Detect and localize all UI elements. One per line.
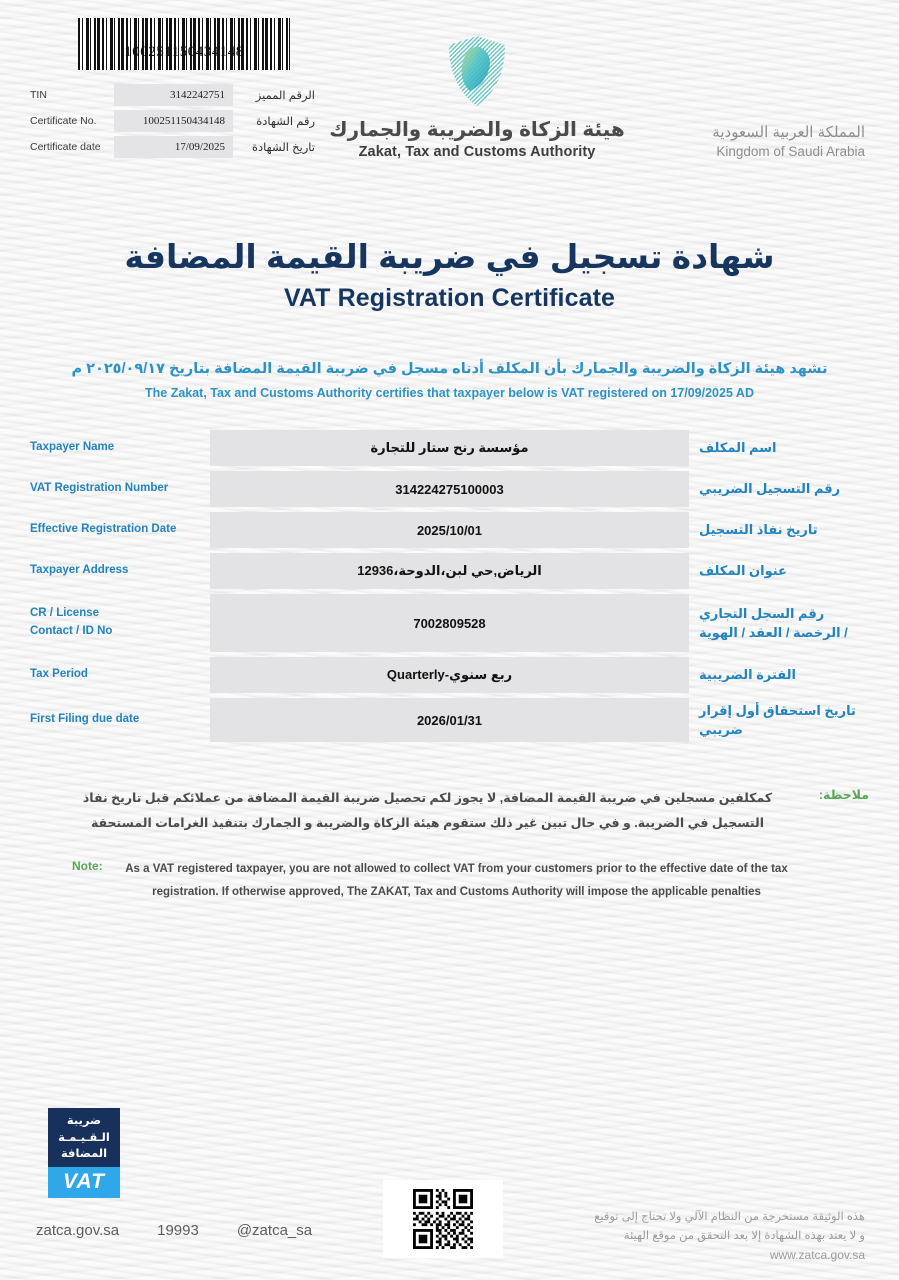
- certificate-no-label-ar: رقم الشهادة: [233, 114, 315, 128]
- label-text: اسم المكلف: [699, 438, 776, 458]
- certificate-no-label-en: Certificate No.: [30, 115, 114, 127]
- label-text: VAT Registration Number: [30, 480, 202, 498]
- certification-statement-en: The Zakat, Tax and Customs Authority cer…: [0, 386, 899, 400]
- disclaimer-line-2: و لا يعتد بهذه الشهادة إلا بعد التحقق من…: [594, 1227, 865, 1246]
- row-value: 7002809528: [210, 594, 689, 652]
- note-label-ar: ملاحظة:: [795, 786, 869, 836]
- row-label-en: CR / License Contact / ID No: [30, 594, 210, 652]
- label-text: CR / License: [30, 605, 202, 623]
- certification-statement-ar: تشهد هيئة الزكاة والضريبة والجمارك بأن ا…: [0, 361, 899, 377]
- qr-code-container: [383, 1180, 503, 1258]
- row-label-en: VAT Registration Number: [30, 471, 210, 507]
- barcode: 100251150434148: [78, 18, 290, 76]
- table-row: CR / License Contact / ID No 7002809528 …: [30, 594, 869, 652]
- certificate-date-value: 17/09/2025: [114, 136, 233, 158]
- vat-logo-arabic-block: ضريبة الـقـيـمـة المضافة: [48, 1108, 120, 1167]
- row-label-ar: الفترة الضريبية: [689, 657, 869, 693]
- row-label-ar: رقم السجل التجاري / الرخصة / العقد / اله…: [689, 594, 869, 652]
- label-text: تاريخ استحقاق أول إقرار: [699, 701, 856, 721]
- vat-logo-acronym-block: VAT: [48, 1167, 120, 1198]
- row-label-ar: رقم التسجيل الضريبي: [689, 471, 869, 507]
- vat-logo-line3: المضافة: [48, 1146, 120, 1163]
- footer-social-handle[interactable]: @zatca_sa: [237, 1222, 312, 1239]
- row-label-ar: تاريخ نفاذ التسجيل: [689, 512, 869, 548]
- label-text: / الرخصة / العقد / الهوية: [699, 623, 848, 643]
- row-value: مؤسسة رنح ستار للتجارة: [210, 430, 689, 466]
- footer-website[interactable]: zatca.gov.sa: [36, 1222, 119, 1239]
- notes-section: ملاحظة: كمكلفين مسجلين في ضريبة القيمة ا…: [30, 786, 869, 904]
- table-row: Taxpayer Name مؤسسة رنح ستار للتجارة اسم…: [30, 430, 869, 466]
- label-text: Taxpayer Name: [30, 439, 202, 457]
- label-text: ضريبي: [699, 720, 743, 740]
- row-value: ربع سنوي-Quarterly: [210, 657, 689, 693]
- title-en: VAT Registration Certificate: [0, 284, 899, 313]
- row-label-ar: اسم المكلف: [689, 430, 869, 466]
- id-row-certificate-date: Certificate date 17/09/2025 تاريخ الشهاد…: [30, 136, 315, 158]
- tin-value: 3142242751: [114, 84, 233, 106]
- row-value: 314224275100003: [210, 471, 689, 507]
- table-row: Taxpayer Address الرياض,حي لبن،الدوحة،12…: [30, 553, 869, 589]
- label-text: عنوان المكلف: [699, 561, 787, 581]
- label-text: رقم السجل التجاري: [699, 604, 824, 624]
- label-text: الفترة الضريبية: [699, 665, 796, 685]
- label-text: Contact / ID No: [30, 623, 202, 641]
- document-header: 100251150434148 TIN 3142242751 الرقم الم…: [0, 0, 899, 185]
- footer-disclaimer: هذه الوثيقة مستخرجة من النظام الآلي ولا …: [594, 1208, 865, 1266]
- row-value: الرياض,حي لبن،الدوحة،12936: [210, 553, 689, 589]
- table-row: Effective Registration Date 2025/10/01 ت…: [30, 512, 869, 548]
- label-text: Tax Period: [30, 666, 202, 684]
- note-ar-row: ملاحظة: كمكلفين مسجلين في ضريبة القيمة ا…: [30, 786, 869, 836]
- id-row-tin: TIN 3142242751 الرقم المميز: [30, 84, 315, 106]
- label-text: Taxpayer Address: [30, 562, 202, 580]
- label-text: رقم التسجيل الضريبي: [699, 479, 840, 499]
- identification-block: 100251150434148 TIN 3142242751 الرقم الم…: [30, 18, 315, 162]
- qr-code-icon: [413, 1189, 473, 1249]
- authority-name-ar: هيئة الزكاة والضريبة والجمارك: [315, 118, 639, 143]
- label-text: First Filing due date: [30, 711, 202, 729]
- title-ar: شهادة تسجيل في ضريبة القيمة المضافة: [0, 237, 899, 276]
- certification-statement: تشهد هيئة الزكاة والضريبة والجمارك بأن ا…: [0, 361, 899, 400]
- document-title: شهادة تسجيل في ضريبة القيمة المضافة VAT …: [0, 237, 899, 313]
- zatca-shield-icon: [446, 34, 508, 108]
- row-label-en: First Filing due date: [30, 698, 210, 742]
- certificate-no-value: 100251150434148: [114, 110, 233, 132]
- vat-logo-line1: ضريبة: [48, 1113, 120, 1130]
- row-label-en: Taxpayer Address: [30, 553, 210, 589]
- kingdom-name-en: Kingdom of Saudi Arabia: [639, 143, 865, 162]
- kingdom-name-ar: المملكة العربية السعودية: [639, 122, 865, 143]
- id-row-certificate-no: Certificate No. 100251150434148 رقم الشه…: [30, 110, 315, 132]
- row-value: 2026/01/31: [210, 698, 689, 742]
- table-row: VAT Registration Number 314224275100003 …: [30, 471, 869, 507]
- certificate-date-label-ar: تاريخ الشهادة: [233, 140, 315, 154]
- label-text: Effective Registration Date: [30, 521, 202, 539]
- table-row: First Filing due date 2026/01/31 تاريخ ا…: [30, 698, 869, 742]
- row-label-en: Tax Period: [30, 657, 210, 693]
- barcode-number: 100251150434148: [78, 44, 290, 61]
- disclaimer-line-1: هذه الوثيقة مستخرجة من النظام الآلي ولا …: [594, 1208, 865, 1227]
- table-row: Tax Period ربع سنوي-Quarterly الفترة الض…: [30, 657, 869, 693]
- row-value: 2025/10/01: [210, 512, 689, 548]
- row-label-ar: تاريخ استحقاق أول إقرار ضريبي: [689, 698, 869, 742]
- note-text-ar: كمكلفين مسجلين في ضريبة القيمة المضافة, …: [30, 786, 795, 836]
- certificate-page: 100251150434148 TIN 3142242751 الرقم الم…: [0, 0, 899, 1280]
- footer-contact-row: zatca.gov.sa 19993 @zatca_sa: [36, 1222, 312, 1239]
- label-text: تاريخ نفاذ التسجيل: [699, 520, 818, 540]
- row-label-ar: عنوان المكلف: [689, 553, 869, 589]
- zatca-logo-block: هيئة الزكاة والضريبة والجمارك Zakat, Tax…: [315, 18, 639, 160]
- certificate-date-label-en: Certificate date: [30, 141, 114, 153]
- footer-phone: 19993: [157, 1222, 199, 1239]
- tin-label-en: TIN: [30, 89, 114, 101]
- row-label-en: Taxpayer Name: [30, 430, 210, 466]
- vat-logo: ضريبة الـقـيـمـة المضافة VAT: [48, 1108, 120, 1198]
- taxpayer-details-table: Taxpayer Name مؤسسة رنح ستار للتجارة اسم…: [30, 430, 869, 742]
- authority-name-en: Zakat, Tax and Customs Authority: [315, 144, 639, 160]
- note-en-row: Note: As a VAT registered taxpayer, you …: [30, 858, 869, 904]
- disclaimer-url[interactable]: www.zatca.gov.sa: [594, 1246, 865, 1266]
- kingdom-block: المملكة العربية السعودية Kingdom of Saud…: [639, 18, 869, 162]
- vat-logo-line2: الـقـيـمـة: [48, 1130, 120, 1147]
- vat-logo-acronym: VAT: [63, 1170, 105, 1193]
- note-label-en: Note:: [30, 858, 104, 904]
- note-text-en: As a VAT registered taxpayer, you are no…: [104, 858, 869, 904]
- row-label-en: Effective Registration Date: [30, 512, 210, 548]
- tin-label-ar: الرقم المميز: [233, 88, 315, 102]
